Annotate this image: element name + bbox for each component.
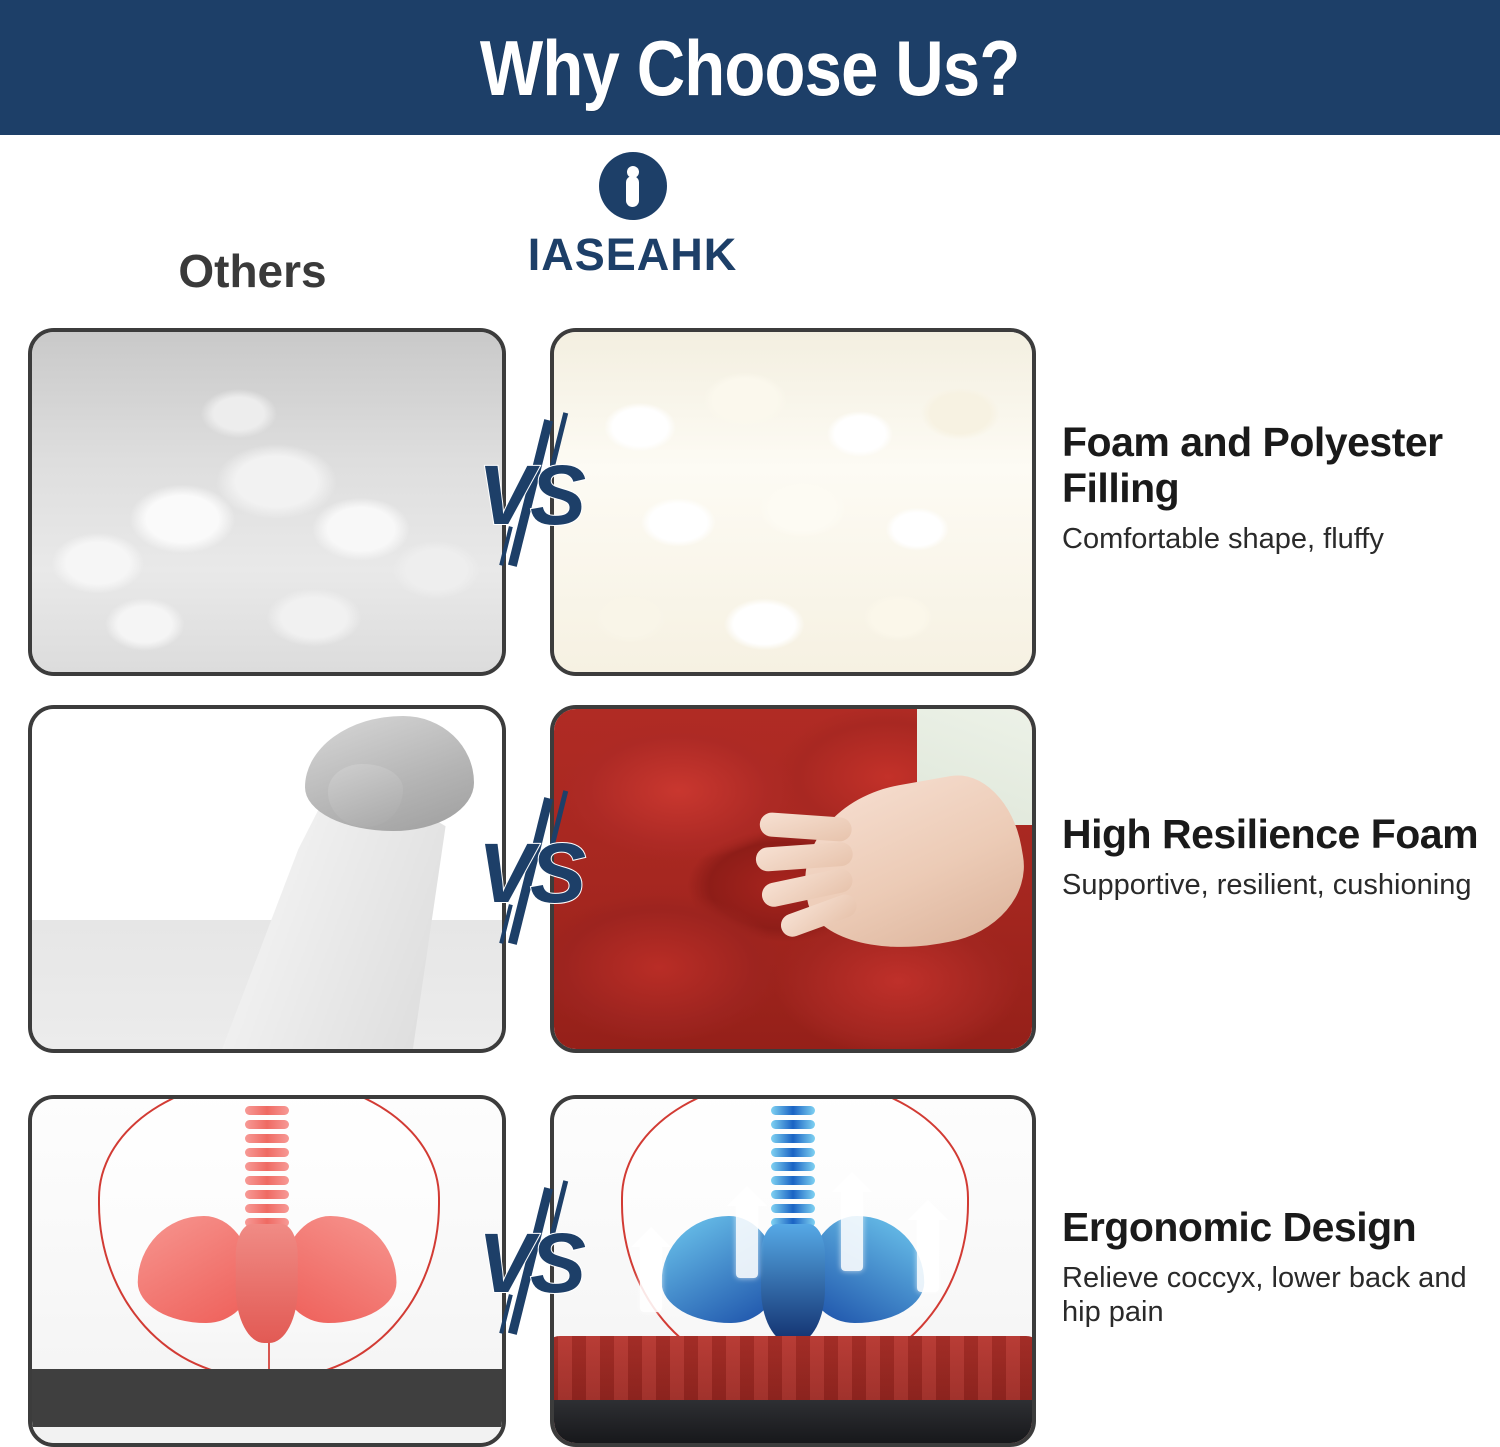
pelvis-wing [662, 1216, 778, 1323]
feature-block-2: High Resilience Foam Supportive, resilie… [1062, 812, 1494, 902]
hard-seat-bar [32, 1369, 502, 1427]
feature-block-3: Ergonomic Design Relieve coccyx, lower b… [1062, 1205, 1494, 1329]
pelvis-wing [809, 1216, 925, 1323]
logo-stem [626, 176, 639, 207]
red-highlighted-spine-pelvis-on-hard-seat-illustration [32, 1099, 502, 1443]
red-cushion [550, 1336, 1036, 1443]
vs-badge-3: VS [470, 1198, 590, 1328]
support-arrow-icon [736, 1202, 758, 1278]
feature-subtitle-3: Relieve coccyx, lower back and hip pain [1062, 1261, 1494, 1329]
feature-subtitle-2: Supportive, resilient, cushioning [1062, 868, 1494, 902]
vs-label: VS [478, 453, 582, 537]
pressing-hand [790, 766, 1035, 965]
pelvis-blue [662, 1216, 925, 1354]
others-column-label: Others [0, 248, 505, 294]
pelvis-red [138, 1216, 397, 1354]
blue-supported-spine-pelvis-on-red-cushion-illustration [554, 1099, 1032, 1443]
page-title: Why Choose Us? [480, 29, 1020, 107]
support-arrow-icon [917, 1216, 939, 1292]
hand-peeling-thin-foam-sheet-photo [32, 709, 502, 1049]
info-circle-icon [599, 152, 667, 220]
grey-hand [305, 716, 474, 832]
cream-foam-chunks-photo [554, 332, 1032, 672]
others-image-panel-2 [28, 705, 506, 1053]
ours-image-panel-3 [550, 1095, 1036, 1447]
others-image-panel-3 [28, 1095, 506, 1447]
vs-badge-1: VS [470, 430, 590, 560]
logo-dot [627, 166, 639, 178]
grey-polyester-fluff-photo [32, 332, 502, 672]
support-arrow-icon [640, 1243, 662, 1312]
ours-image-panel-2 [550, 705, 1036, 1053]
pelvis-wing [283, 1216, 397, 1323]
feature-subtitle-1: Comfortable shape, fluffy [1062, 522, 1494, 556]
ours-image-panel-1 [550, 328, 1036, 676]
brand-name: IASEAHK [528, 232, 738, 277]
feature-title-1: Foam and Polyester Filling [1062, 420, 1494, 512]
vs-badge-2: VS [470, 808, 590, 938]
vs-label: VS [478, 1221, 582, 1305]
hand-pressing-red-tufted-cushion-photo [554, 709, 1032, 1049]
feature-block-1: Foam and Polyester Filling Comfortable s… [1062, 420, 1494, 556]
feature-title-3: Ergonomic Design [1062, 1205, 1494, 1251]
support-arrow-icon [841, 1188, 863, 1271]
sacrum [761, 1224, 824, 1342]
finger [758, 812, 852, 843]
pelvis-wing [138, 1216, 252, 1323]
sacrum [236, 1224, 298, 1342]
feature-title-2: High Resilience Foam [1062, 812, 1494, 858]
header-banner: Why Choose Us? [0, 0, 1500, 135]
others-image-panel-1 [28, 328, 506, 676]
vs-label: VS [478, 831, 582, 915]
